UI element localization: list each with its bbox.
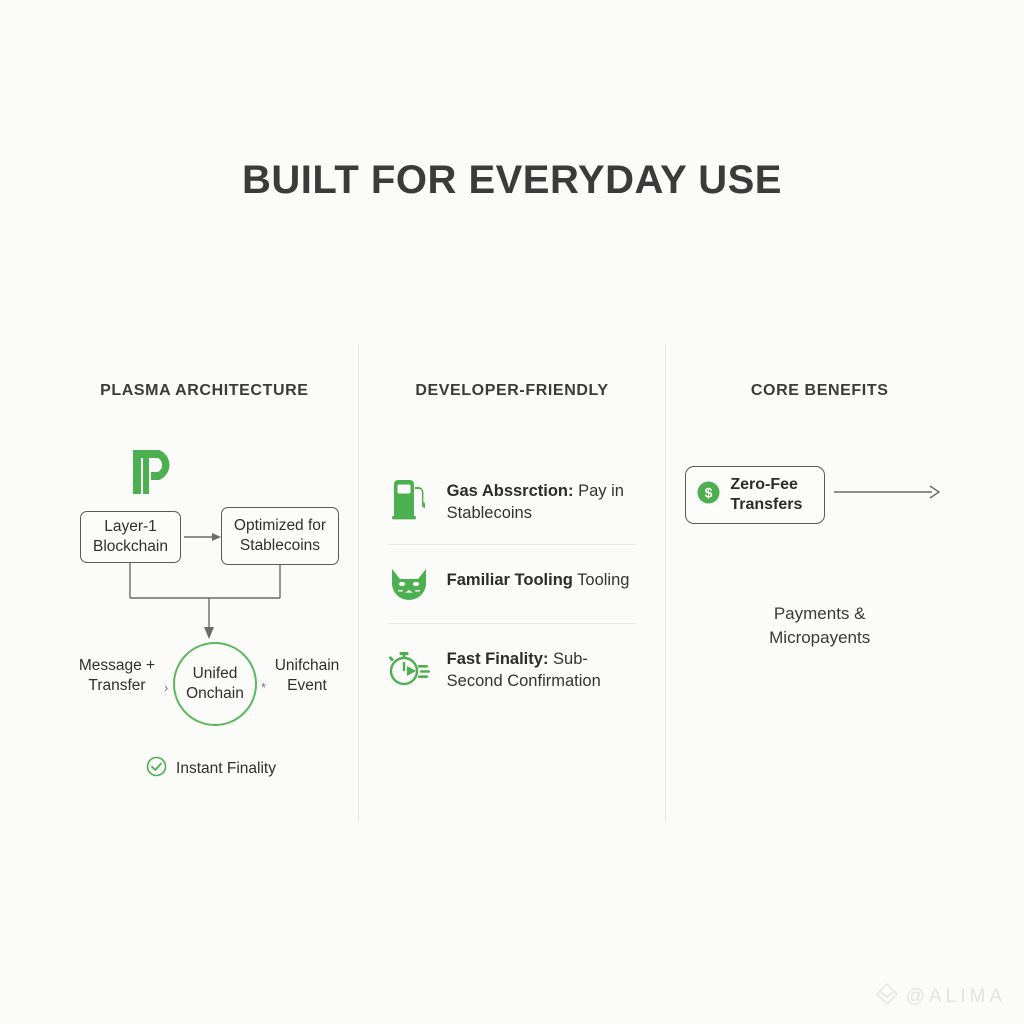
column-developer-friendly: DEVELOPER-FRIENDLY [358,344,666,822]
svg-text:$: $ [705,485,713,501]
feature-familiar-tooling-text: Familiar Tooling Tooling [447,567,630,591]
feature-fast-finality-bold: Fast Finality: [447,650,549,668]
node-optimized-line1: Optimized for [234,517,326,534]
fuel-pump-icon [387,478,431,520]
column-heading-developer: DEVELOPER-FRIENDLY [359,382,666,400]
diamond-logo-icon [875,982,899,1012]
feature-familiar-tooling: Familiar Tooling Tooling [387,544,638,623]
instant-finality-row: Instant Finality [81,756,341,782]
benefit-zero-fee-line1: Zero-Fee [730,476,798,493]
label-message-transfer-line1: Message + [79,657,155,674]
stopwatch-icon [387,646,431,690]
watermark: @ALIMA [875,982,1006,1012]
benefit-zero-fee-line2: Transfers [730,496,802,513]
feature-familiar-tooling-rest: Tooling [573,571,630,589]
node-optimized-stablecoins: Optimized for Stablecoins [221,507,339,565]
node-layer1-line2: Blockchain [93,538,168,555]
check-circle-icon [146,756,167,782]
label-message-transfer: Message + Transfer [69,656,165,696]
node-unified-onchain-label: Unifed Onchain [186,664,244,704]
label-unifchain-event-line2: Event [287,677,327,694]
architecture-connectors: › * [51,344,358,822]
plasma-p-logo-icon [131,446,178,501]
columns-container: PLASMA ARCHITECTURE [51,344,973,822]
watermark-text: @ALIMA [906,986,1006,1008]
label-unifchain-event: Unifchain Event [259,656,355,696]
feature-gas-abstraction-bold: Gas Abssrction: [447,482,574,500]
benefit-zero-fee-label: Zero-Fee Transfers [730,475,802,515]
feature-gas-abstraction: Gas Abssrction: Pay in Stablecoins [387,466,638,544]
column-plasma-architecture: PLASMA ARCHITECTURE [51,344,358,822]
node-unified-onchain-line1: Unifed [193,665,238,682]
node-layer1-label: Layer-1 Blockchain [93,517,168,557]
architecture-diagram: › * Layer-1 [51,344,358,822]
benefit-caption-line1: Payments & [774,604,866,623]
benefit-caption: Payments & Micropayents [666,602,973,650]
feature-fast-finality-text: Fast Finality: Sub-Second Confirmation [447,646,638,692]
feature-familiar-tooling-bold: Familiar Tooling [447,571,573,589]
benefit-caption-line2: Micropayents [769,628,870,647]
column-core-benefits: CORE BENEFITS $ Zero-Fee Transfers [665,344,973,822]
feature-gas-abstraction-text: Gas Abssrction: Pay in Stablecoins [447,478,638,524]
arrow-right-icon [834,484,944,505]
node-optimized-line2: Stablecoins [240,537,320,554]
label-unifchain-event-line1: Unifchain [275,657,340,674]
node-layer1-blockchain: Layer-1 Blockchain [80,511,181,563]
node-unified-onchain-line2: Onchain [186,685,244,702]
node-optimized-label: Optimized for Stablecoins [234,516,326,556]
node-layer1-line1: Layer-1 [104,518,157,535]
node-unified-onchain: Unifed Onchain [173,642,257,726]
benefit-zero-fee-transfers: $ Zero-Fee Transfers [685,466,825,524]
column-heading-benefits: CORE BENEFITS [666,382,973,400]
page-title: BUILT FOR EVERYDAY USE [0,158,1024,203]
instant-finality-label: Instant Finality [176,760,276,778]
feature-list: Gas Abssrction: Pay in Stablecoins [387,466,638,712]
fox-head-icon [387,567,431,603]
dollar-coin-icon: $ [696,480,721,510]
label-message-transfer-line2: Transfer [88,677,145,694]
feature-fast-finality: Fast Finality: Sub-Second Confirmation [387,623,638,712]
infographic-canvas: BUILT FOR EVERYDAY USE PLASMA ARCHITECTU… [0,0,1024,1024]
